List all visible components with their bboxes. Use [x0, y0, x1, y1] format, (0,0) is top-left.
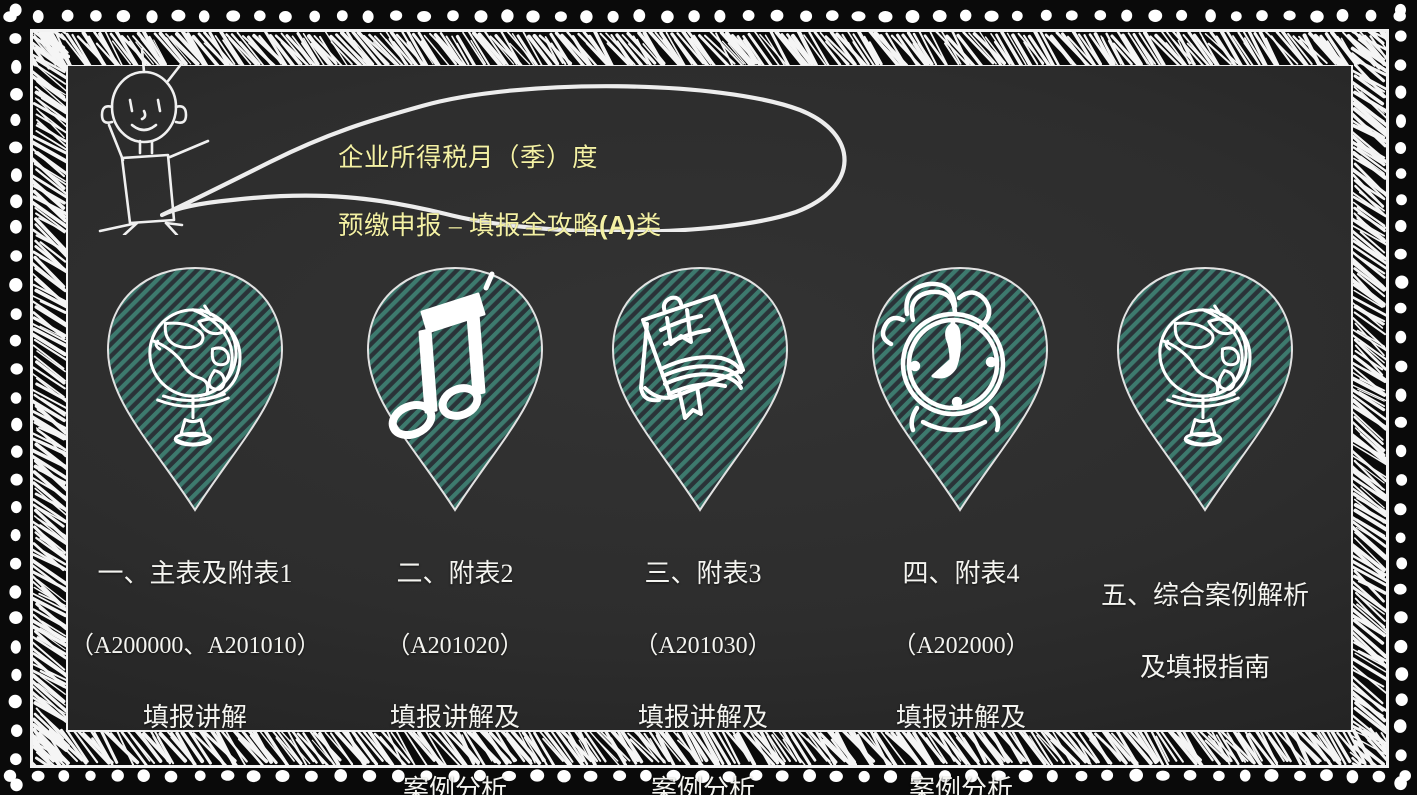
caption-row: 一、主表及附表1 （A200000、A201010） 填报讲解 二、附表2 （A…	[0, 520, 1417, 720]
slide-canvas: 企业所得税月（季）度 预缴申报 – 填报全攻略(A)类	[0, 0, 1417, 795]
caption-1-line-3: 填报讲解	[70, 700, 320, 736]
caption-item-4: 四、附表4 （A202000） 填报讲解及 案例分析	[868, 520, 1054, 795]
caption-3-line-4: 案例分析	[610, 772, 796, 795]
caption-3-line-1: 三、附表3	[610, 556, 796, 592]
caption-4-line-4: 案例分析	[868, 772, 1054, 795]
border-dots-top	[0, 8, 1417, 24]
caption-5-line-2: 及填报指南	[1090, 650, 1320, 686]
caption-item-1: 一、主表及附表1 （A200000、A201010） 填报讲解	[70, 520, 320, 772]
pin-marker-2[interactable]	[360, 262, 550, 512]
title-line-2-prefix: 预缴申报 – 填报全攻略	[338, 211, 599, 240]
pin-marker-4[interactable]	[865, 262, 1055, 512]
caption-item-5: 五、综合案例解析 及填报指南	[1090, 542, 1320, 722]
caption-4-line-2: （A202000）	[868, 628, 1054, 664]
slide-title: 企业所得税月（季）度 预缴申报 – 填报全攻略(A)类	[338, 107, 768, 243]
pin-row	[0, 262, 1417, 522]
caption-item-3: 三、附表3 （A201030） 填报讲解及 案例分析	[610, 520, 796, 795]
caption-3-line-3: 填报讲解及	[610, 700, 796, 736]
caption-item-2: 二、附表2 （A201020） 填报讲解及 案例分析	[362, 520, 548, 795]
caption-5-line-1: 五、综合案例解析	[1090, 578, 1320, 614]
pin-marker-1[interactable]	[100, 262, 290, 512]
pin-marker-5[interactable]	[1110, 262, 1300, 512]
title-line-2-a: (A)	[599, 212, 636, 240]
caption-3-line-2: （A201030）	[610, 628, 796, 664]
caption-2-line-4: 案例分析	[362, 772, 548, 795]
caption-1-line-1: 一、主表及附表1	[70, 556, 320, 592]
caption-4-line-3: 填报讲解及	[868, 700, 1054, 736]
frame-outline-top-outer	[30, 29, 1389, 32]
title-line-1: 企业所得税月（季）度	[338, 143, 598, 172]
title-line-2-suffix: 类	[636, 211, 662, 240]
caption-2-line-2: （A201020）	[362, 628, 548, 664]
caption-2-line-3: 填报讲解及	[362, 700, 548, 736]
pin-marker-3[interactable]	[605, 262, 795, 512]
caption-2-line-1: 二、附表2	[362, 556, 548, 592]
caption-4-line-1: 四、附表4	[868, 556, 1054, 592]
caption-1-line-2: （A200000、A201010）	[70, 628, 320, 664]
